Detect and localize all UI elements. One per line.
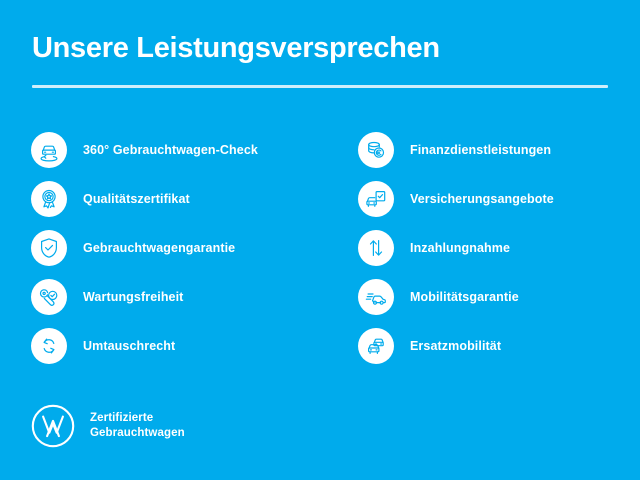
promise-item-trade-in: Inzahlungnahme <box>358 223 640 272</box>
promise-item-exchange-right: Umtauschrecht <box>31 321 321 370</box>
promise-column-left: 360° Gebrauchtwagen-Check Qualitätszerti… <box>31 125 321 370</box>
promise-label: Ersatzmobilität <box>410 339 501 353</box>
wrench-check-icon <box>31 279 67 315</box>
car-motion-icon <box>358 279 394 315</box>
promise-label: Versicherungsangebote <box>410 192 554 206</box>
promise-label: Inzahlungnahme <box>410 241 510 255</box>
promise-label: Finanzdienstleistungen <box>410 143 551 157</box>
car-360-check-icon <box>31 132 67 168</box>
promise-item-insurance: Versicherungsangebote <box>358 174 640 223</box>
promise-item-quality-certificate: Qualitätszertifikat <box>31 174 321 223</box>
promise-item-maintenance-free: Wartungsfreiheit <box>31 272 321 321</box>
promise-column-right: Finanzdienstleistungen Versicheru <box>358 125 640 370</box>
car-document-check-icon <box>358 181 394 217</box>
brand-lockup: Zertifizierte Gebrauchtwagen <box>30 403 185 449</box>
promise-label: 360° Gebrauchtwagen-Check <box>83 143 258 157</box>
brand-text-line1: Zertifizierte <box>90 411 185 426</box>
promise-label: Mobilitätsgarantie <box>410 290 519 304</box>
two-cars-icon <box>358 328 394 364</box>
promise-label: Wartungsfreiheit <box>83 290 183 304</box>
promise-label: Gebrauchtwagengarantie <box>83 241 235 255</box>
promise-item-360-check: 360° Gebrauchtwagen-Check <box>31 125 321 174</box>
promise-item-mobility-guarantee: Mobilitätsgarantie <box>358 272 640 321</box>
vw-logo <box>30 403 76 449</box>
promise-label: Qualitätszertifikat <box>83 192 190 206</box>
coins-euro-icon <box>358 132 394 168</box>
brand-text-line2: Gebrauchtwagen <box>90 426 185 441</box>
brand-text: Zertifizierte Gebrauchtwagen <box>90 411 185 441</box>
promise-item-financial-services: Finanzdienstleistungen <box>358 125 640 174</box>
promo-card: Unsere Leistungsversprechen 360° Gebrauc… <box>0 0 640 480</box>
shield-check-icon <box>31 230 67 266</box>
exchange-arrows-icon <box>31 328 67 364</box>
quality-rosette-icon <box>31 181 67 217</box>
up-down-arrows-icon <box>358 230 394 266</box>
promise-label: Umtauschrecht <box>83 339 175 353</box>
promise-item-replacement-mobility: Ersatzmobilität <box>358 321 640 370</box>
promise-item-warranty: Gebrauchtwagengarantie <box>31 223 321 272</box>
